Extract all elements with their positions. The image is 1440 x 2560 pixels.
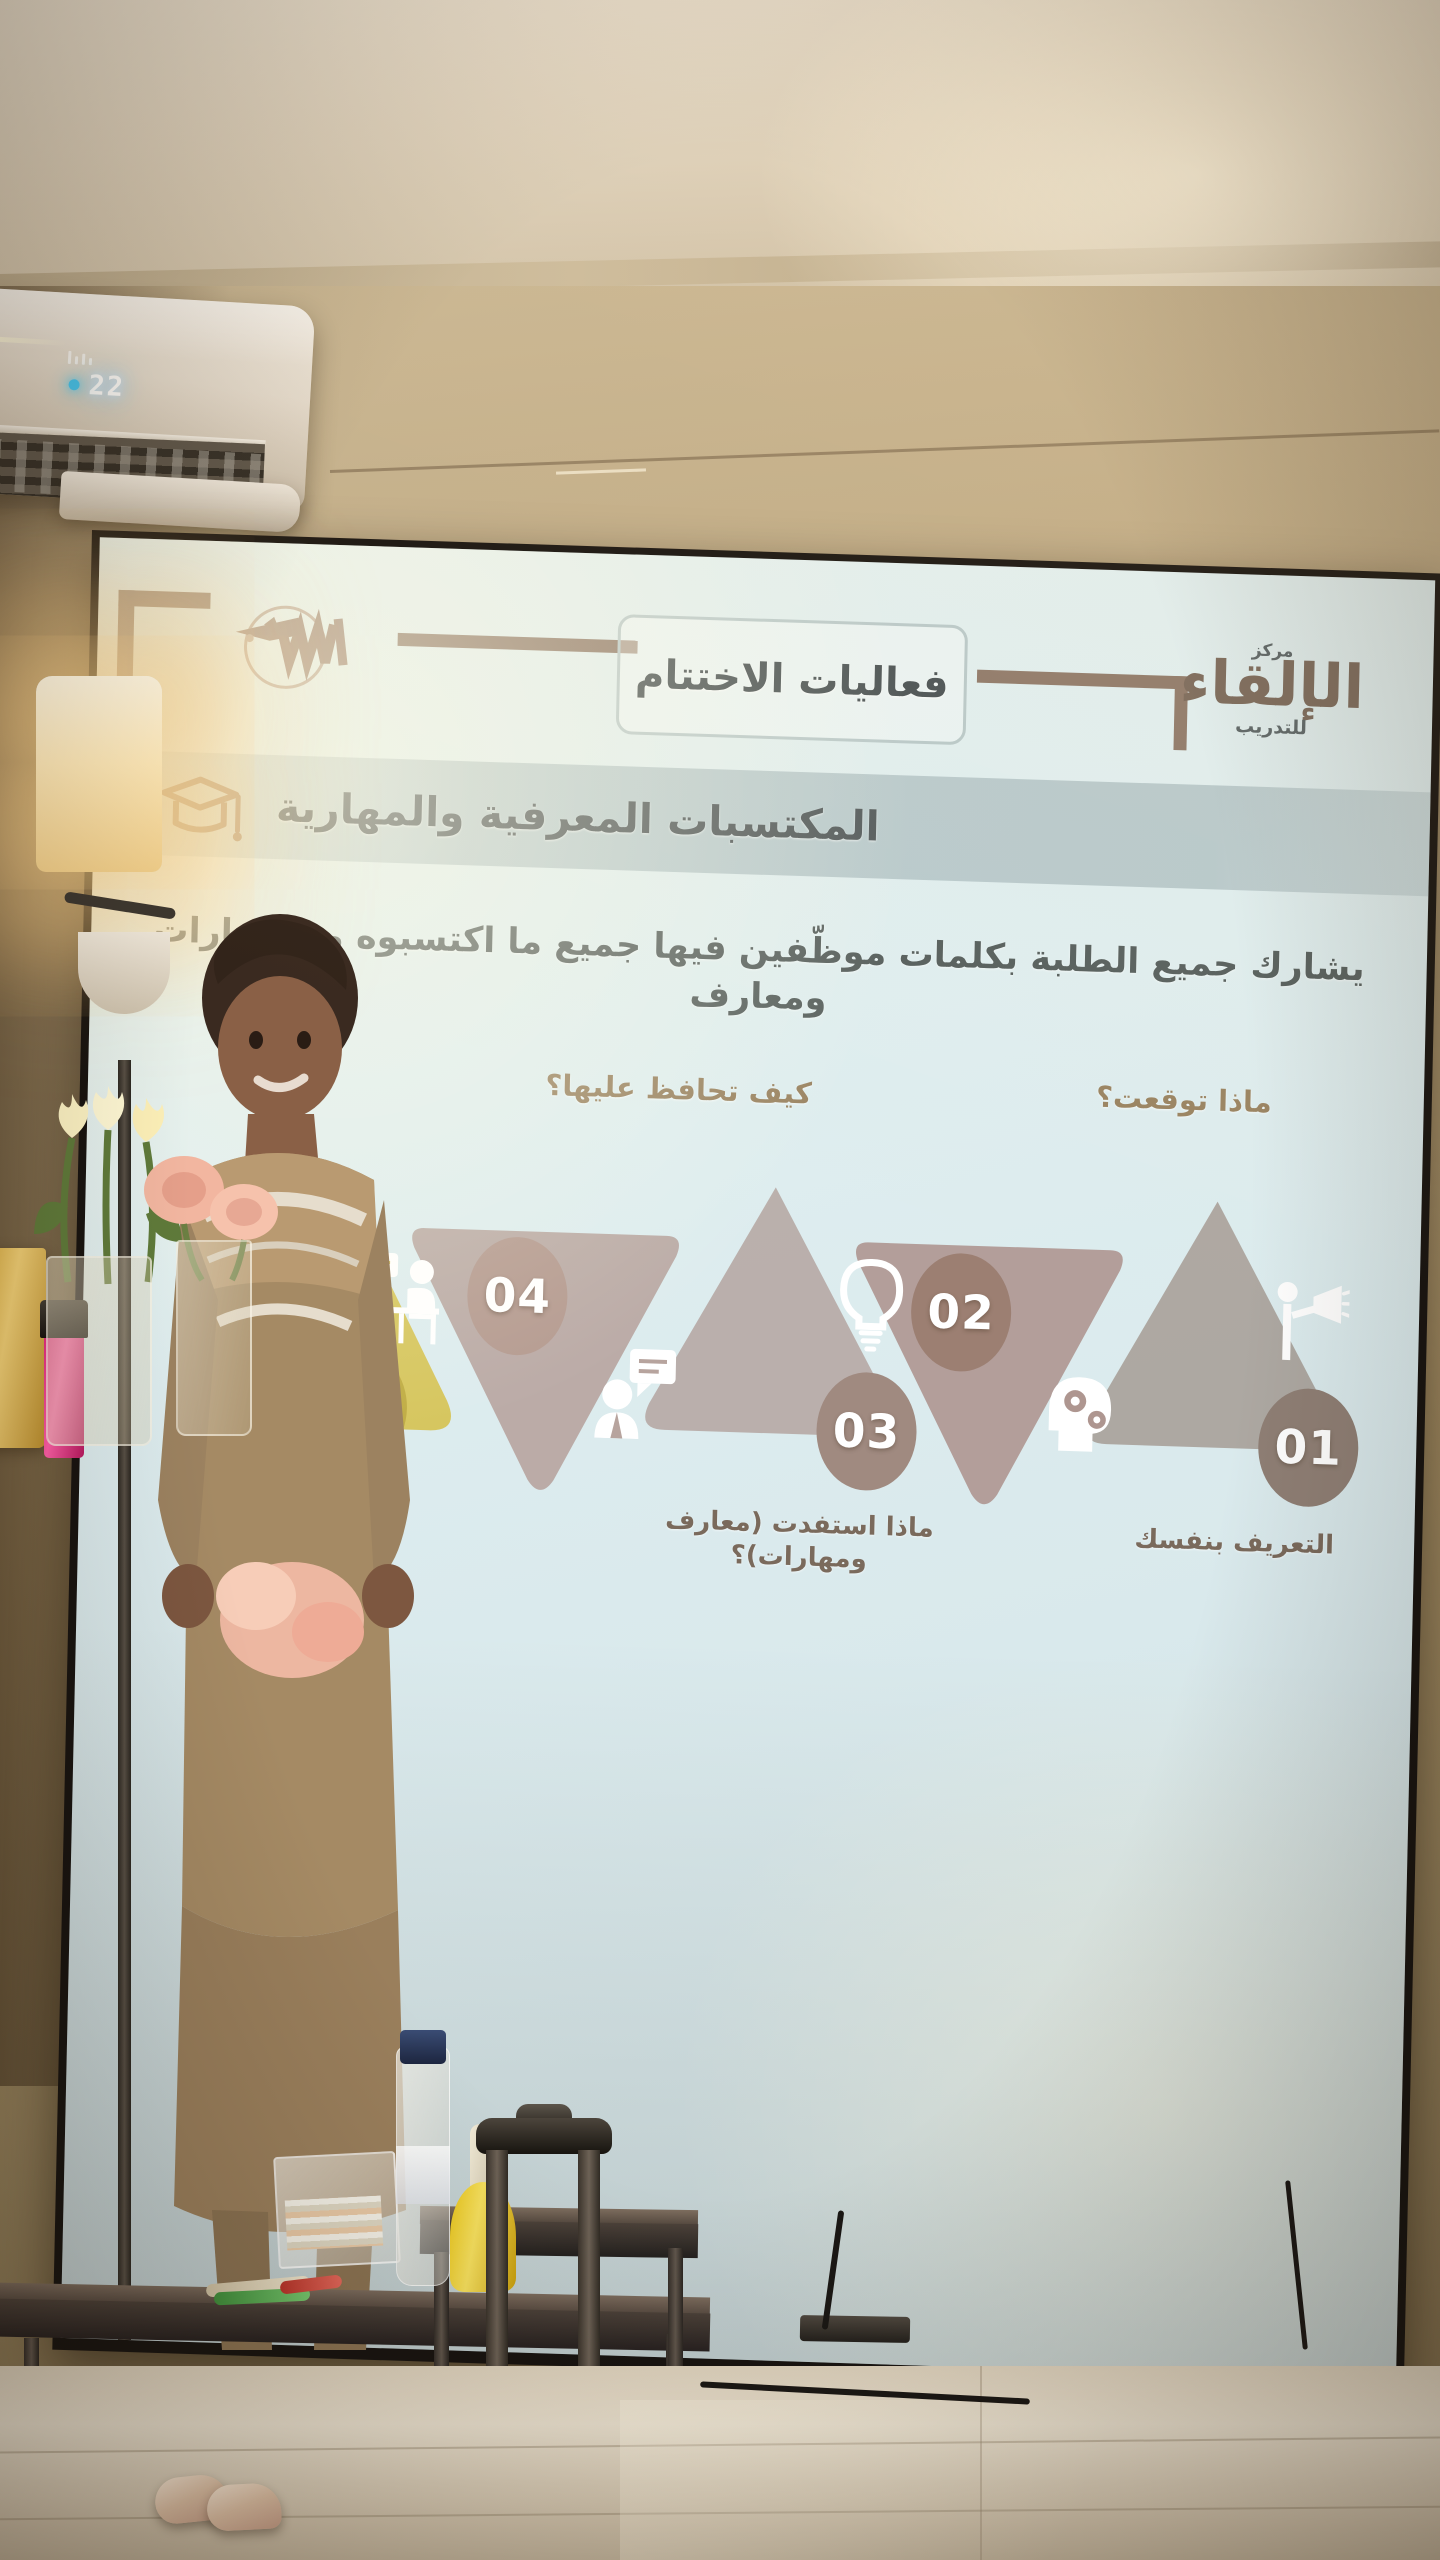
person-speech-icon xyxy=(588,1343,682,1440)
step-03-label: ماذا استفدت (معارف ومهارات)؟ xyxy=(653,1504,944,1580)
heading-maintain: كيف تحافظ عليها؟ xyxy=(545,1068,812,1111)
graduation-cap-icon xyxy=(153,766,247,843)
slide-lead-text: يشارك جميع الطلبة بكلمات موظّفين فيها جم… xyxy=(130,906,1387,1041)
lightbulb-icon xyxy=(834,1255,908,1353)
slide-title: فعاليات الاختتام xyxy=(635,652,949,708)
head-gears-icon xyxy=(1028,1358,1126,1455)
ceiling xyxy=(0,0,1440,300)
step-05-label: كيف تطبق xyxy=(214,1485,455,1526)
slide-subtitle-bar: المكتسبات المعرفية والمهارية xyxy=(93,749,1431,896)
slide-title-box: فعاليات الاختتام xyxy=(616,614,968,745)
ac-signal-bars-icon xyxy=(68,351,93,365)
brand-logo: مركز الإلقاء للتدريب xyxy=(1146,637,1398,742)
brand-main-word: الإلقاء xyxy=(1146,653,1397,718)
presentation-slide: فعاليات الاختتام مركز الإلقاء للتدريب ال… xyxy=(61,537,1436,2381)
arabic-calligraphy-logo-icon xyxy=(177,580,389,697)
ac-display: 22 xyxy=(68,369,126,403)
slide-rule-middle xyxy=(398,633,638,654)
slide-subtitle: المكتسبات المعرفية والمهارية xyxy=(275,783,880,850)
ac-status-dot-icon xyxy=(68,379,80,391)
heading-expect: ماذا توقعت؟ xyxy=(1096,1080,1272,1120)
projection-screen: فعاليات الاختتام مركز الإلقاء للتدريب ال… xyxy=(61,537,1436,2381)
ac-temperature-value: 22 xyxy=(88,370,126,403)
steps-diagram: ماذا توقعت؟ كيف تحافظ عليها؟ xyxy=(64,1037,1425,2240)
step-01-label: التعريف بنفسك xyxy=(1114,1522,1355,1563)
photo-scene: 22 xyxy=(0,0,1440,2560)
slide-rule-left-vertical xyxy=(117,590,135,678)
megaphone-icon xyxy=(1260,1277,1350,1372)
person-desk-icon xyxy=(358,1248,464,1351)
projection-screen-frame: فعاليات الاختتام مركز الإلقاء للتدريب ال… xyxy=(52,530,1440,2393)
